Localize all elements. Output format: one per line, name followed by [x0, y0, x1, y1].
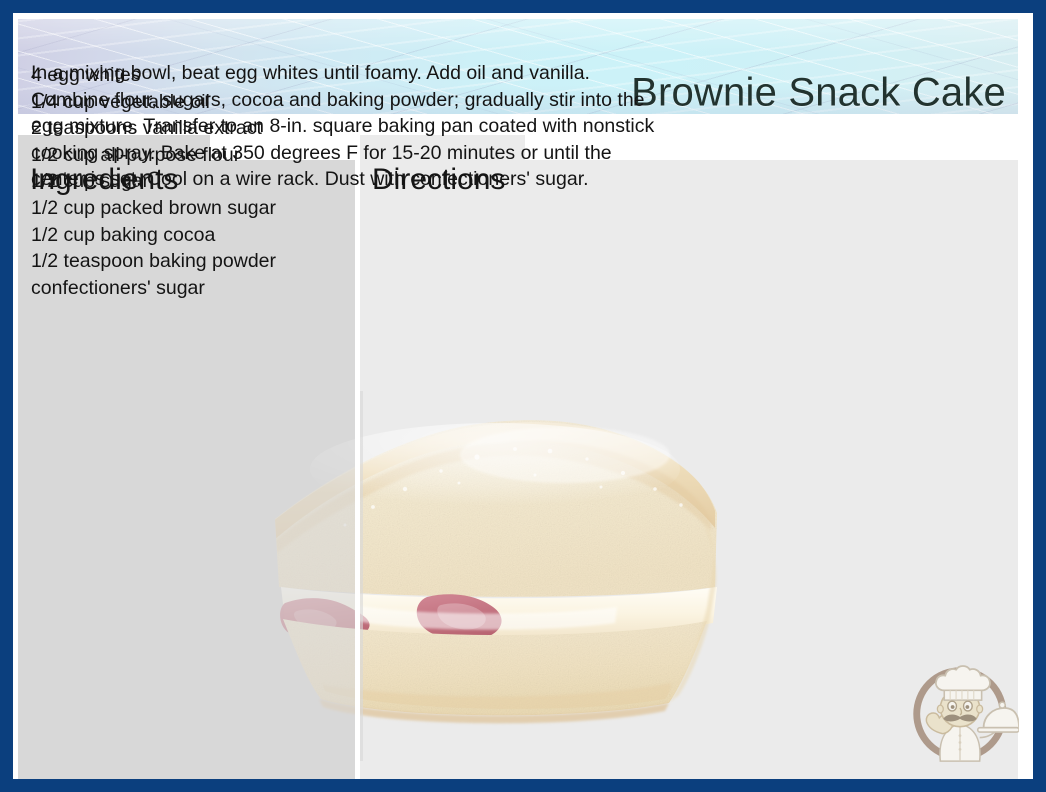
card-mat: Brownie Snack Cake	[13, 13, 1033, 779]
list-item: 1/2 teaspoon baking powder	[31, 248, 1025, 275]
chef-logo	[901, 651, 1019, 769]
list-item: 1/2 cup packed brown sugar	[31, 195, 1025, 222]
list-item: 1/2 cup baking cocoa	[31, 222, 1025, 249]
recipe-card: Brownie Snack Cake	[0, 0, 1046, 792]
list-item: confectioners' sugar	[31, 275, 1025, 302]
directions-text: In a mixing bowl, beat egg whites until …	[31, 60, 663, 193]
